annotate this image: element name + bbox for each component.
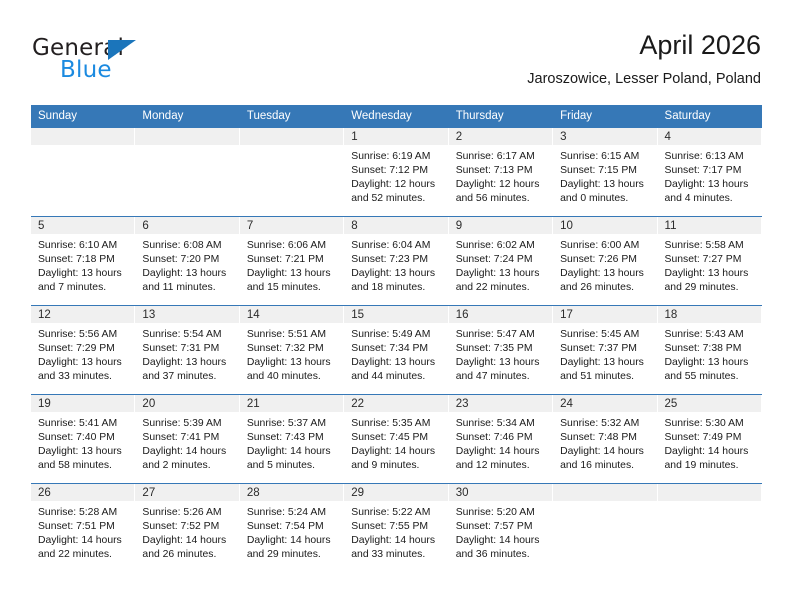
daylight-minutes-text: and 40 minutes. — [247, 370, 337, 384]
sunset-text: Sunset: 7:40 PM — [38, 431, 128, 445]
calendar-week-row: 26Sunrise: 5:28 AMSunset: 7:51 PMDayligh… — [31, 484, 762, 573]
calendar-day-cell[interactable]: 29Sunrise: 5:22 AMSunset: 7:55 PMDayligh… — [344, 484, 448, 572]
sunset-text: Sunset: 7:13 PM — [456, 164, 546, 178]
daylight-minutes-text: and 0 minutes. — [560, 192, 650, 206]
calendar-cell-empty — [240, 128, 344, 216]
sunset-text: Sunset: 7:57 PM — [456, 520, 546, 534]
sunset-text: Sunset: 7:54 PM — [247, 520, 337, 534]
sunset-text: Sunset: 7:38 PM — [665, 342, 755, 356]
sunrise-text: Sunrise: 5:32 AM — [560, 417, 650, 431]
calendar-cell-empty — [135, 128, 239, 216]
day-number: 5 — [31, 217, 134, 234]
logo-text-blue: Blue — [60, 57, 112, 83]
day-number: 28 — [240, 484, 343, 501]
sunset-text: Sunset: 7:32 PM — [247, 342, 337, 356]
daylight-minutes-text: and 15 minutes. — [247, 281, 337, 295]
day-details: Sunrise: 6:02 AMSunset: 7:24 PMDaylight:… — [449, 234, 552, 295]
weekday-header-saturday: Saturday — [658, 105, 762, 128]
weekday-header-monday: Monday — [135, 105, 239, 128]
sunset-text: Sunset: 7:29 PM — [38, 342, 128, 356]
day-number: 17 — [553, 306, 656, 323]
calendar-day-cell[interactable]: 21Sunrise: 5:37 AMSunset: 7:43 PMDayligh… — [240, 395, 344, 483]
sunset-text: Sunset: 7:15 PM — [560, 164, 650, 178]
calendar-day-cell[interactable]: 26Sunrise: 5:28 AMSunset: 7:51 PMDayligh… — [31, 484, 135, 572]
sunset-text: Sunset: 7:12 PM — [351, 164, 441, 178]
calendar-week-row: 1Sunrise: 6:19 AMSunset: 7:12 PMDaylight… — [31, 128, 762, 217]
calendar-cell-empty — [658, 484, 762, 572]
daylight-text: Daylight: 14 hours — [38, 534, 128, 548]
day-number: 27 — [135, 484, 238, 501]
day-details: Sunrise: 5:22 AMSunset: 7:55 PMDaylight:… — [344, 501, 447, 562]
day-number: 6 — [135, 217, 238, 234]
sunrise-text: Sunrise: 5:39 AM — [142, 417, 232, 431]
daylight-minutes-text: and 12 minutes. — [456, 459, 546, 473]
daylight-text: Daylight: 13 hours — [247, 356, 337, 370]
calendar-day-cell[interactable]: 28Sunrise: 5:24 AMSunset: 7:54 PMDayligh… — [240, 484, 344, 572]
daylight-minutes-text: and 16 minutes. — [560, 459, 650, 473]
calendar-day-cell[interactable]: 24Sunrise: 5:32 AMSunset: 7:48 PMDayligh… — [553, 395, 657, 483]
sunset-text: Sunset: 7:26 PM — [560, 253, 650, 267]
daylight-minutes-text: and 19 minutes. — [665, 459, 755, 473]
daylight-text: Daylight: 14 hours — [247, 445, 337, 459]
sunset-text: Sunset: 7:43 PM — [247, 431, 337, 445]
calendar-day-cell[interactable]: 16Sunrise: 5:47 AMSunset: 7:35 PMDayligh… — [449, 306, 553, 394]
daylight-minutes-text: and 26 minutes. — [560, 281, 650, 295]
daylight-minutes-text: and 37 minutes. — [142, 370, 232, 384]
calendar-day-cell[interactable]: 2Sunrise: 6:17 AMSunset: 7:13 PMDaylight… — [449, 128, 553, 216]
calendar-week-row: 12Sunrise: 5:56 AMSunset: 7:29 PMDayligh… — [31, 306, 762, 395]
daylight-text: Daylight: 13 hours — [247, 267, 337, 281]
day-details: Sunrise: 6:04 AMSunset: 7:23 PMDaylight:… — [344, 234, 447, 295]
sunset-text: Sunset: 7:24 PM — [456, 253, 546, 267]
daylight-minutes-text: and 11 minutes. — [142, 281, 232, 295]
sunrise-text: Sunrise: 5:43 AM — [665, 328, 755, 342]
daylight-minutes-text: and 44 minutes. — [351, 370, 441, 384]
day-details: Sunrise: 5:34 AMSunset: 7:46 PMDaylight:… — [449, 412, 552, 473]
daylight-text: Daylight: 14 hours — [142, 534, 232, 548]
daylight-text: Daylight: 13 hours — [142, 356, 232, 370]
day-number: 4 — [658, 128, 761, 145]
calendar-day-cell[interactable]: 17Sunrise: 5:45 AMSunset: 7:37 PMDayligh… — [553, 306, 657, 394]
day-details: Sunrise: 5:30 AMSunset: 7:49 PMDaylight:… — [658, 412, 761, 473]
sunrise-text: Sunrise: 5:34 AM — [456, 417, 546, 431]
sunrise-text: Sunrise: 6:02 AM — [456, 239, 546, 253]
daylight-minutes-text: and 58 minutes. — [38, 459, 128, 473]
sunset-text: Sunset: 7:27 PM — [665, 253, 755, 267]
sunrise-text: Sunrise: 5:30 AM — [665, 417, 755, 431]
sunrise-text: Sunrise: 5:58 AM — [665, 239, 755, 253]
daylight-text: Daylight: 14 hours — [456, 445, 546, 459]
sunrise-text: Sunrise: 5:26 AM — [142, 506, 232, 520]
daylight-text: Daylight: 13 hours — [560, 178, 650, 192]
sunrise-text: Sunrise: 5:49 AM — [351, 328, 441, 342]
generalblue-logo: General Blue — [31, 33, 211, 89]
daylight-text: Daylight: 13 hours — [38, 267, 128, 281]
daylight-minutes-text: and 29 minutes. — [665, 281, 755, 295]
day-number: 10 — [553, 217, 656, 234]
daylight-minutes-text: and 52 minutes. — [351, 192, 441, 206]
daylight-minutes-text: and 9 minutes. — [351, 459, 441, 473]
day-details: Sunrise: 5:56 AMSunset: 7:29 PMDaylight:… — [31, 323, 134, 384]
calendar-day-cell[interactable]: 5Sunrise: 6:10 AMSunset: 7:18 PMDaylight… — [31, 217, 135, 305]
sunset-text: Sunset: 7:48 PM — [560, 431, 650, 445]
daylight-minutes-text: and 29 minutes. — [247, 548, 337, 562]
day-number: 14 — [240, 306, 343, 323]
day-details: Sunrise: 6:10 AMSunset: 7:18 PMDaylight:… — [31, 234, 134, 295]
day-details: Sunrise: 5:28 AMSunset: 7:51 PMDaylight:… — [31, 501, 134, 562]
sunset-text: Sunset: 7:52 PM — [142, 520, 232, 534]
day-number: 20 — [135, 395, 238, 412]
day-details: Sunrise: 5:47 AMSunset: 7:35 PMDaylight:… — [449, 323, 552, 384]
day-number: 23 — [449, 395, 552, 412]
sunrise-text: Sunrise: 6:08 AM — [142, 239, 232, 253]
weekday-header-tuesday: Tuesday — [240, 105, 344, 128]
day-number: 21 — [240, 395, 343, 412]
sunrise-text: Sunrise: 6:04 AM — [351, 239, 441, 253]
day-details: Sunrise: 5:37 AMSunset: 7:43 PMDaylight:… — [240, 412, 343, 473]
daylight-text: Daylight: 13 hours — [665, 267, 755, 281]
day-number — [553, 484, 656, 501]
daylight-minutes-text: and 47 minutes. — [456, 370, 546, 384]
sunset-text: Sunset: 7:21 PM — [247, 253, 337, 267]
sunrise-text: Sunrise: 5:24 AM — [247, 506, 337, 520]
calendar-day-cell[interactable]: 9Sunrise: 6:02 AMSunset: 7:24 PMDaylight… — [449, 217, 553, 305]
daylight-text: Daylight: 14 hours — [456, 534, 546, 548]
day-number: 8 — [344, 217, 447, 234]
daylight-text: Daylight: 13 hours — [665, 356, 755, 370]
calendar-cell-empty — [31, 128, 135, 216]
calendar-day-cell[interactable]: 7Sunrise: 6:06 AMSunset: 7:21 PMDaylight… — [240, 217, 344, 305]
day-details: Sunrise: 5:39 AMSunset: 7:41 PMDaylight:… — [135, 412, 238, 473]
sunset-text: Sunset: 7:46 PM — [456, 431, 546, 445]
day-number: 9 — [449, 217, 552, 234]
calendar-day-cell[interactable]: 20Sunrise: 5:39 AMSunset: 7:41 PMDayligh… — [135, 395, 239, 483]
day-details: Sunrise: 6:08 AMSunset: 7:20 PMDaylight:… — [135, 234, 238, 295]
daylight-minutes-text: and 33 minutes. — [38, 370, 128, 384]
daylight-text: Daylight: 14 hours — [351, 534, 441, 548]
sunset-text: Sunset: 7:31 PM — [142, 342, 232, 356]
day-number: 12 — [31, 306, 134, 323]
page-header: General Blue April 2026 Jaroszowice, Les… — [31, 28, 761, 98]
day-details: Sunrise: 6:19 AMSunset: 7:12 PMDaylight:… — [344, 145, 447, 206]
sunrise-text: Sunrise: 6:15 AM — [560, 150, 650, 164]
sunrise-text: Sunrise: 5:45 AM — [560, 328, 650, 342]
weekday-header-sunday: Sunday — [31, 105, 135, 128]
daylight-text: Daylight: 13 hours — [456, 356, 546, 370]
calendar-day-cell[interactable]: 6Sunrise: 6:08 AMSunset: 7:20 PMDaylight… — [135, 217, 239, 305]
calendar-day-cell[interactable]: 22Sunrise: 5:35 AMSunset: 7:45 PMDayligh… — [344, 395, 448, 483]
day-number: 7 — [240, 217, 343, 234]
day-details: Sunrise: 5:24 AMSunset: 7:54 PMDaylight:… — [240, 501, 343, 562]
sunrise-text: Sunrise: 6:13 AM — [665, 150, 755, 164]
weekday-header-thursday: Thursday — [449, 105, 553, 128]
calendar-day-cell[interactable]: 14Sunrise: 5:51 AMSunset: 7:32 PMDayligh… — [240, 306, 344, 394]
day-details: Sunrise: 6:15 AMSunset: 7:15 PMDaylight:… — [553, 145, 656, 206]
daylight-minutes-text: and 2 minutes. — [142, 459, 232, 473]
sunrise-text: Sunrise: 5:37 AM — [247, 417, 337, 431]
daylight-text: Daylight: 13 hours — [142, 267, 232, 281]
calendar-day-cell[interactable]: 4Sunrise: 6:13 AMSunset: 7:17 PMDaylight… — [658, 128, 762, 216]
sunrise-text: Sunrise: 5:47 AM — [456, 328, 546, 342]
daylight-text: Daylight: 13 hours — [456, 267, 546, 281]
daylight-minutes-text: and 36 minutes. — [456, 548, 546, 562]
day-details: Sunrise: 5:49 AMSunset: 7:34 PMDaylight:… — [344, 323, 447, 384]
sunrise-text: Sunrise: 5:51 AM — [247, 328, 337, 342]
day-details: Sunrise: 6:00 AMSunset: 7:26 PMDaylight:… — [553, 234, 656, 295]
sunrise-text: Sunrise: 6:19 AM — [351, 150, 441, 164]
day-number: 11 — [658, 217, 761, 234]
calendar-day-cell[interactable]: 8Sunrise: 6:04 AMSunset: 7:23 PMDaylight… — [344, 217, 448, 305]
daylight-minutes-text: and 56 minutes. — [456, 192, 546, 206]
daylight-text: Daylight: 13 hours — [560, 356, 650, 370]
day-details: Sunrise: 5:43 AMSunset: 7:38 PMDaylight:… — [658, 323, 761, 384]
calendar-day-cell[interactable]: 25Sunrise: 5:30 AMSunset: 7:49 PMDayligh… — [658, 395, 762, 483]
sunset-text: Sunset: 7:45 PM — [351, 431, 441, 445]
daylight-text: Daylight: 13 hours — [665, 178, 755, 192]
calendar-cell-empty — [553, 484, 657, 572]
day-number — [240, 128, 343, 145]
sunrise-text: Sunrise: 5:35 AM — [351, 417, 441, 431]
sunset-text: Sunset: 7:49 PM — [665, 431, 755, 445]
sunset-text: Sunset: 7:37 PM — [560, 342, 650, 356]
sunset-text: Sunset: 7:41 PM — [142, 431, 232, 445]
day-number: 1 — [344, 128, 447, 145]
logo-triangle-icon — [108, 40, 136, 60]
day-details: Sunrise: 6:06 AMSunset: 7:21 PMDaylight:… — [240, 234, 343, 295]
daylight-text: Daylight: 12 hours — [456, 178, 546, 192]
day-number: 2 — [449, 128, 552, 145]
daylight-text: Daylight: 14 hours — [665, 445, 755, 459]
daylight-text: Daylight: 13 hours — [38, 356, 128, 370]
day-number: 3 — [553, 128, 656, 145]
daylight-minutes-text: and 55 minutes. — [665, 370, 755, 384]
sunrise-text: Sunrise: 6:10 AM — [38, 239, 128, 253]
day-number: 18 — [658, 306, 761, 323]
weekday-header-friday: Friday — [553, 105, 657, 128]
sunrise-text: Sunrise: 6:17 AM — [456, 150, 546, 164]
sunrise-text: Sunrise: 5:54 AM — [142, 328, 232, 342]
day-number: 25 — [658, 395, 761, 412]
sunrise-text: Sunrise: 5:41 AM — [38, 417, 128, 431]
calendar-day-cell[interactable]: 15Sunrise: 5:49 AMSunset: 7:34 PMDayligh… — [344, 306, 448, 394]
calendar-day-cell[interactable]: 23Sunrise: 5:34 AMSunset: 7:46 PMDayligh… — [449, 395, 553, 483]
day-number — [135, 128, 238, 145]
sunset-text: Sunset: 7:17 PM — [665, 164, 755, 178]
sunset-text: Sunset: 7:55 PM — [351, 520, 441, 534]
day-details: Sunrise: 6:13 AMSunset: 7:17 PMDaylight:… — [658, 145, 761, 206]
sunset-text: Sunset: 7:20 PM — [142, 253, 232, 267]
sunrise-text: Sunrise: 5:56 AM — [38, 328, 128, 342]
calendar-day-cell[interactable]: 18Sunrise: 5:43 AMSunset: 7:38 PMDayligh… — [658, 306, 762, 394]
calendar-day-cell[interactable]: 12Sunrise: 5:56 AMSunset: 7:29 PMDayligh… — [31, 306, 135, 394]
calendar-week-row: 19Sunrise: 5:41 AMSunset: 7:40 PMDayligh… — [31, 395, 762, 484]
day-details: Sunrise: 5:58 AMSunset: 7:27 PMDaylight:… — [658, 234, 761, 295]
daylight-text: Daylight: 13 hours — [38, 445, 128, 459]
sunset-text: Sunset: 7:34 PM — [351, 342, 441, 356]
calendar-body: 1Sunrise: 6:19 AMSunset: 7:12 PMDaylight… — [31, 128, 762, 572]
day-details: Sunrise: 5:35 AMSunset: 7:45 PMDaylight:… — [344, 412, 447, 473]
daylight-minutes-text: and 22 minutes. — [456, 281, 546, 295]
calendar-day-cell[interactable]: 30Sunrise: 5:20 AMSunset: 7:57 PMDayligh… — [449, 484, 553, 572]
daylight-minutes-text: and 7 minutes. — [38, 281, 128, 295]
day-details: Sunrise: 5:51 AMSunset: 7:32 PMDaylight:… — [240, 323, 343, 384]
calendar-grid: Sunday Monday Tuesday Wednesday Thursday… — [31, 105, 762, 572]
daylight-text: Daylight: 12 hours — [351, 178, 441, 192]
calendar-day-cell[interactable]: 19Sunrise: 5:41 AMSunset: 7:40 PMDayligh… — [31, 395, 135, 483]
daylight-minutes-text: and 22 minutes. — [38, 548, 128, 562]
day-details: Sunrise: 5:32 AMSunset: 7:48 PMDaylight:… — [553, 412, 656, 473]
day-number: 13 — [135, 306, 238, 323]
day-details: Sunrise: 5:26 AMSunset: 7:52 PMDaylight:… — [135, 501, 238, 562]
day-number: 29 — [344, 484, 447, 501]
calendar-week-row: 5Sunrise: 6:10 AMSunset: 7:18 PMDaylight… — [31, 217, 762, 306]
weekday-header-row: Sunday Monday Tuesday Wednesday Thursday… — [31, 105, 762, 128]
daylight-minutes-text: and 51 minutes. — [560, 370, 650, 384]
sunset-text: Sunset: 7:51 PM — [38, 520, 128, 534]
calendar-day-cell[interactable]: 1Sunrise: 6:19 AMSunset: 7:12 PMDaylight… — [344, 128, 448, 216]
weekday-header-wednesday: Wednesday — [344, 105, 448, 128]
daylight-text: Daylight: 13 hours — [560, 267, 650, 281]
daylight-minutes-text: and 33 minutes. — [351, 548, 441, 562]
day-number: 19 — [31, 395, 134, 412]
day-details: Sunrise: 5:54 AMSunset: 7:31 PMDaylight:… — [135, 323, 238, 384]
daylight-text: Daylight: 14 hours — [247, 534, 337, 548]
page-subtitle: Jaroszowice, Lesser Poland, Poland — [527, 68, 761, 90]
day-number — [31, 128, 134, 145]
sunrise-text: Sunrise: 5:22 AM — [351, 506, 441, 520]
sunset-text: Sunset: 7:35 PM — [456, 342, 546, 356]
calendar-day-cell[interactable]: 27Sunrise: 5:26 AMSunset: 7:52 PMDayligh… — [135, 484, 239, 572]
daylight-text: Daylight: 14 hours — [560, 445, 650, 459]
sunset-text: Sunset: 7:18 PM — [38, 253, 128, 267]
daylight-text: Daylight: 14 hours — [142, 445, 232, 459]
daylight-minutes-text: and 26 minutes. — [142, 548, 232, 562]
day-number: 26 — [31, 484, 134, 501]
day-details: Sunrise: 5:45 AMSunset: 7:37 PMDaylight:… — [553, 323, 656, 384]
sunrise-text: Sunrise: 6:00 AM — [560, 239, 650, 253]
calendar-day-cell[interactable]: 11Sunrise: 5:58 AMSunset: 7:27 PMDayligh… — [658, 217, 762, 305]
calendar-page: General Blue April 2026 Jaroszowice, Les… — [0, 0, 792, 612]
day-number: 15 — [344, 306, 447, 323]
daylight-minutes-text: and 18 minutes. — [351, 281, 441, 295]
day-details: Sunrise: 6:17 AMSunset: 7:13 PMDaylight:… — [449, 145, 552, 206]
calendar-day-cell[interactable]: 3Sunrise: 6:15 AMSunset: 7:15 PMDaylight… — [553, 128, 657, 216]
day-number — [658, 484, 761, 501]
calendar-day-cell[interactable]: 13Sunrise: 5:54 AMSunset: 7:31 PMDayligh… — [135, 306, 239, 394]
day-number: 30 — [449, 484, 552, 501]
day-number: 22 — [344, 395, 447, 412]
calendar-day-cell[interactable]: 10Sunrise: 6:00 AMSunset: 7:26 PMDayligh… — [553, 217, 657, 305]
title-block: April 2026 Jaroszowice, Lesser Poland, P… — [527, 28, 761, 90]
day-details: Sunrise: 5:20 AMSunset: 7:57 PMDaylight:… — [449, 501, 552, 562]
daylight-text: Daylight: 13 hours — [351, 267, 441, 281]
daylight-text: Daylight: 14 hours — [351, 445, 441, 459]
daylight-minutes-text: and 5 minutes. — [247, 459, 337, 473]
page-title: April 2026 — [527, 28, 761, 62]
daylight-text: Daylight: 13 hours — [351, 356, 441, 370]
day-number: 24 — [553, 395, 656, 412]
daylight-minutes-text: and 4 minutes. — [665, 192, 755, 206]
sunrise-text: Sunrise: 5:20 AM — [456, 506, 546, 520]
sunrise-text: Sunrise: 5:28 AM — [38, 506, 128, 520]
sunrise-text: Sunrise: 6:06 AM — [247, 239, 337, 253]
day-details: Sunrise: 5:41 AMSunset: 7:40 PMDaylight:… — [31, 412, 134, 473]
day-number: 16 — [449, 306, 552, 323]
sunset-text: Sunset: 7:23 PM — [351, 253, 441, 267]
